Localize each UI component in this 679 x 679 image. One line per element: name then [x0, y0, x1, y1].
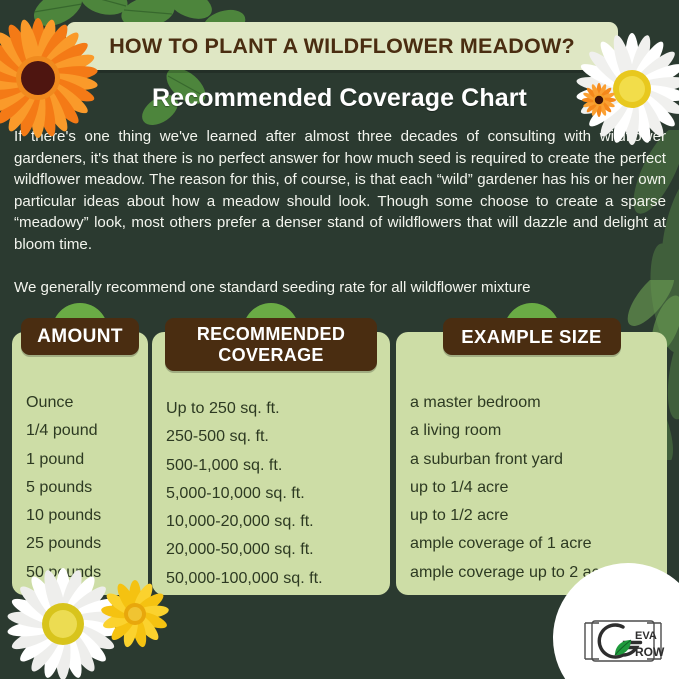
cell-list-amount: Ounce 1/4 pound 1 pound 5 pounds 10 poun…: [12, 332, 148, 595]
logo-text-row: ROW: [635, 645, 665, 659]
table-cell: up to 1/4 acre: [410, 473, 667, 501]
title-banner: HOW TO PLANT A WILDFLOWER MEADOW?: [66, 22, 618, 70]
coverage-table: Ounce 1/4 pound 1 pound 5 pounds 10 poun…: [0, 300, 679, 600]
table-cell: 10 pounds: [26, 501, 148, 529]
paragraph-intro: If there's one thing we've learned after…: [14, 126, 666, 256]
logo-text-eva: EVA: [635, 630, 657, 642]
table-cell: 25 pounds: [26, 529, 148, 557]
evagrow-logo[interactable]: EVA ROW: [579, 615, 667, 667]
table-cell: ample coverage of 1 acre: [410, 529, 667, 557]
subtitle-row: Recommended Coverage Chart: [0, 78, 679, 118]
table-cell: 1 pound: [26, 445, 148, 473]
table-cell: 10,000-20,000 sq. ft.: [166, 507, 390, 535]
column-card-example: a master bedroom a living room a suburba…: [396, 332, 667, 595]
column-card-amount: Ounce 1/4 pound 1 pound 5 pounds 10 poun…: [12, 332, 148, 595]
table-cell: a suburban front yard: [410, 445, 667, 473]
cell-list-example: a master bedroom a living room a suburba…: [396, 332, 667, 595]
table-column-example-size: a master bedroom a living room a suburba…: [396, 300, 667, 595]
table-cell: 50,000-100,000 sq. ft.: [166, 564, 390, 592]
column-header-amount: AMOUNT: [21, 318, 139, 355]
leaves-decoration-top-left: [18, 0, 278, 140]
column-header-example-size: EXAMPLE SIZE: [443, 318, 621, 355]
table-column-amount: Ounce 1/4 pound 1 pound 5 pounds 10 poun…: [12, 300, 148, 595]
table-cell: Ounce: [26, 388, 148, 416]
table-cell: 50 pounds: [26, 558, 148, 586]
table-cell: 250-500 sq. ft.: [166, 422, 390, 450]
column-header-recommended-coverage: RECOMMENDED COVERAGE: [165, 318, 377, 371]
column-header-line-1: RECOMMENDED: [197, 324, 345, 345]
infographic-root: HOW TO PLANT A WILDFLOWER MEADOW? Recomm…: [0, 0, 679, 679]
table-cell: Up to 250 sq. ft.: [166, 394, 390, 422]
table-cell: a master bedroom: [410, 388, 667, 416]
table-cell: 500-1,000 sq. ft.: [166, 451, 390, 479]
table-cell: a living room: [410, 416, 667, 444]
table-cell: 1/4 pound: [26, 416, 148, 444]
table-cell: 20,000-50,000 sq. ft.: [166, 535, 390, 563]
column-header-line-2: COVERAGE: [197, 345, 345, 366]
column-card-coverage: Up to 250 sq. ft. 250-500 sq. ft. 500-1,…: [152, 332, 390, 595]
table-cell: up to 1/2 acre: [410, 501, 667, 529]
page-title: HOW TO PLANT A WILDFLOWER MEADOW?: [109, 34, 575, 59]
cell-list-coverage: Up to 250 sq. ft. 250-500 sq. ft. 500-1,…: [152, 332, 390, 595]
paragraph-recommendation: We generally recommend one standard seed…: [14, 277, 666, 299]
body-copy: If there's one thing we've learned after…: [14, 126, 666, 298]
table-cell: 5 pounds: [26, 473, 148, 501]
table-column-recommended-coverage: Up to 250 sq. ft. 250-500 sq. ft. 500-1,…: [152, 300, 390, 595]
page-subtitle: Recommended Coverage Chart: [152, 84, 527, 113]
table-cell: 5,000-10,000 sq. ft.: [166, 479, 390, 507]
